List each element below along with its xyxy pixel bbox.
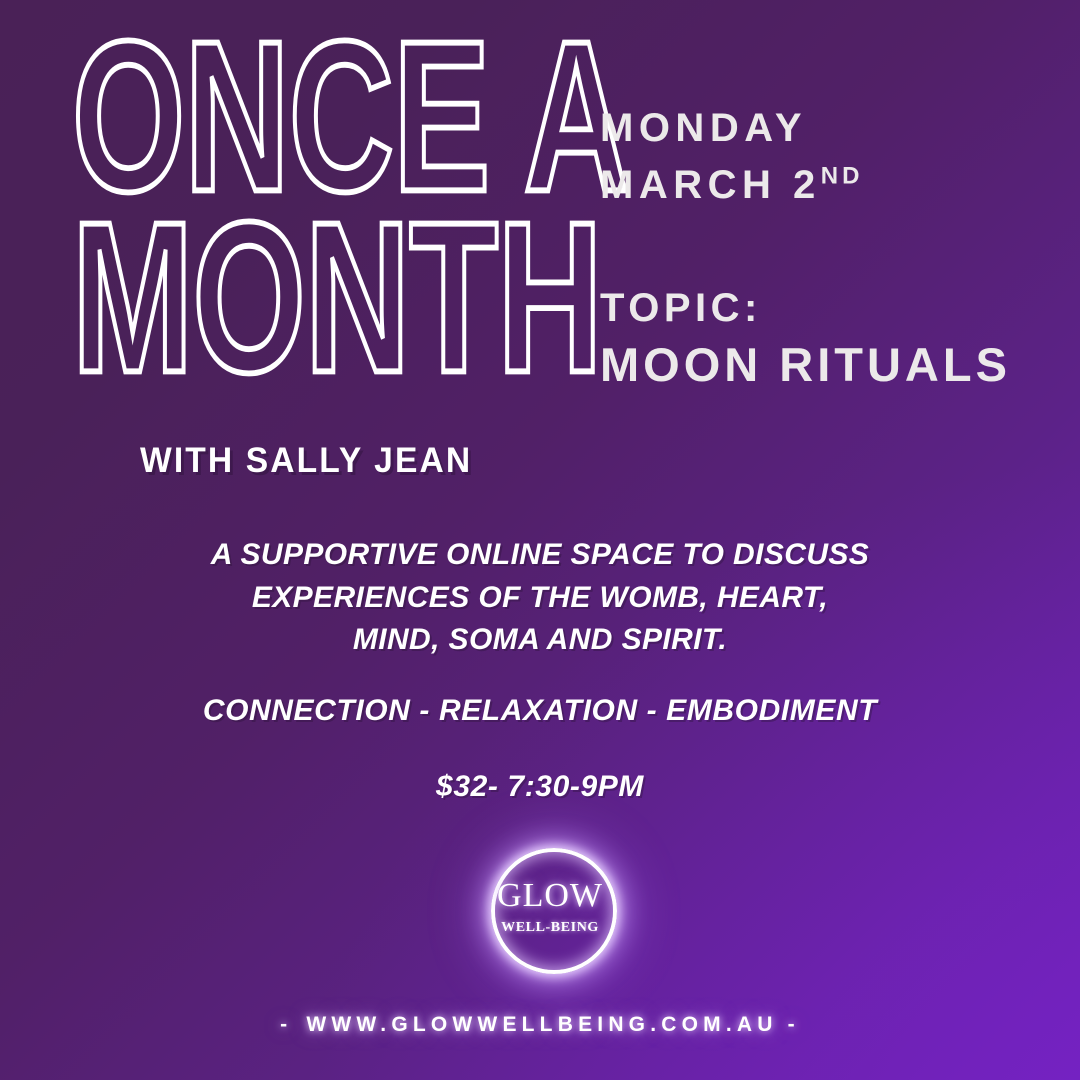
details-column: MONDAY MARCH 2ND TOPIC: MOON RITUALS xyxy=(600,100,1040,396)
presenter-name: WITH SALLY JEAN xyxy=(140,441,472,481)
topic-value: MOON RITUALS xyxy=(600,334,1040,396)
logo-brand-subtitle: WELL-BEING xyxy=(501,921,599,935)
headline-line-2: MONTH xyxy=(72,205,488,390)
schedule-date-text: MARCH 2 xyxy=(600,163,821,207)
schedule-block: MONDAY MARCH 2ND xyxy=(600,100,1040,214)
footer-dash-right: - xyxy=(788,1013,800,1036)
topic-block: TOPIC: MOON RITUALS xyxy=(600,282,1040,396)
description-line-3: MIND, SOMA AND SPIRIT. xyxy=(0,619,1080,662)
schedule-date-ordinal: ND xyxy=(821,162,864,189)
logo-brand-name: GLOW xyxy=(497,879,603,913)
logo-text-group: GLOW WELL-BEING xyxy=(470,827,630,987)
footer-dash-left: - xyxy=(280,1013,292,1036)
event-poster: ONCE A MONTH MONDAY MARCH 2ND TOPIC: MOO… xyxy=(0,0,1080,1080)
tagline: CONNECTION - RELAXATION - EMBODIMENT xyxy=(0,694,1080,728)
schedule-date: MARCH 2ND xyxy=(600,157,1040,214)
description-block: A SUPPORTIVE ONLINE SPACE TO DISCUSS EXP… xyxy=(0,534,1080,662)
poster-headline: ONCE A MONTH xyxy=(72,24,592,361)
schedule-day: MONDAY xyxy=(600,100,1040,157)
footer-url[interactable]: WWW.GLOWWELLBEING.COM.AU xyxy=(306,1013,777,1036)
price-and-time: $32- 7:30-9PM xyxy=(0,770,1080,804)
footer-website: -WWW.GLOWWELLBEING.COM.AU- xyxy=(0,1013,1080,1037)
description-line-2: EXPERIENCES OF THE WOMB, HEART, xyxy=(0,577,1080,620)
glow-wellbeing-logo: GLOW WELL-BEING xyxy=(470,827,630,987)
description-line-1: A SUPPORTIVE ONLINE SPACE TO DISCUSS xyxy=(0,534,1080,577)
topic-label: TOPIC: xyxy=(600,282,1040,334)
